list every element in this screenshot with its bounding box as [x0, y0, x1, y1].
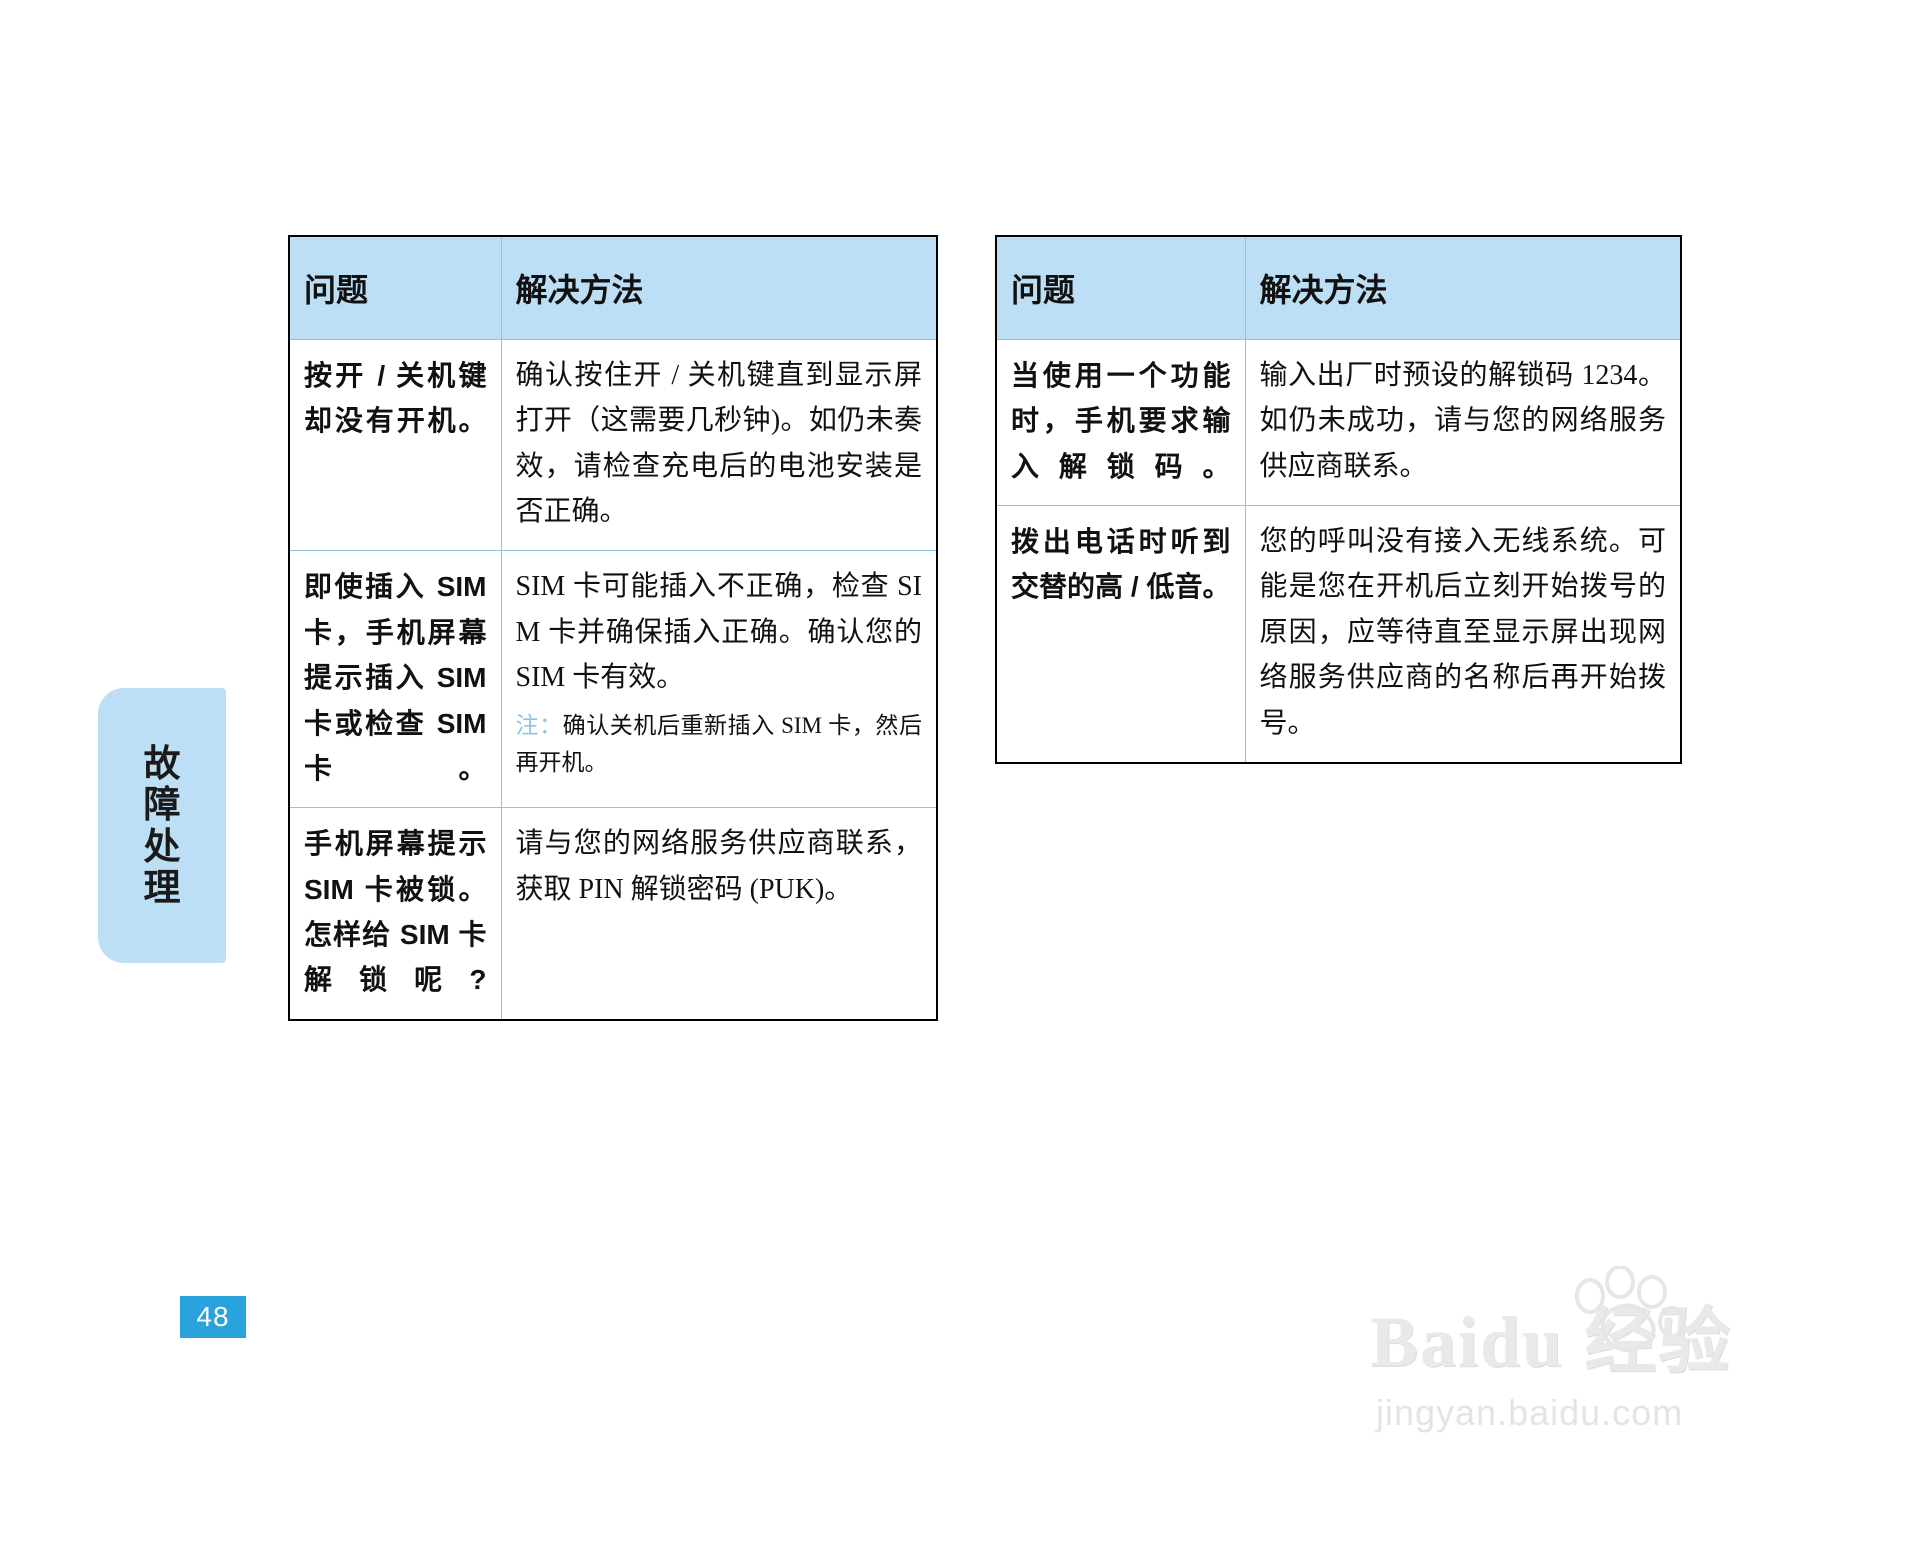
- page-number-badge: 48: [180, 1296, 246, 1338]
- section-tab-troubleshooting: 故障处理: [98, 688, 226, 963]
- table-row: 即使插入 SIM 卡，手机屏幕提示插入 SIM 卡或检查 SIM 卡。 SIM …: [289, 551, 937, 808]
- question-cell: 拨出电话时听到交替的高 / 低音。: [996, 506, 1245, 763]
- solution-text: 请与您的网络服务供应商联系，获取 PIN 解锁密码 (PUK)。: [516, 821, 923, 912]
- solution-cell: 输入出厂时预设的解锁码 1234。如仍未成功，请与您的网络服务供应商联系。: [1245, 340, 1681, 506]
- question-cell: 按开 / 关机键却没有开机。: [289, 340, 501, 551]
- column-header-solution: 解决方法: [501, 236, 937, 340]
- solution-cell: 请与您的网络服务供应商联系，获取 PIN 解锁密码 (PUK)。: [501, 808, 937, 1020]
- troubleshooting-table-left: 问题 解决方法 按开 / 关机键却没有开机。 确认按住开 / 关机键直到显示屏打…: [288, 235, 938, 1021]
- column-header-solution: 解决方法: [1245, 236, 1681, 340]
- solution-cell: SIM 卡可能插入不正确，检查 SIM 卡并确保插入正确。确认您的 SIM 卡有…: [501, 551, 937, 808]
- troubleshooting-table-right: 问题 解决方法 当使用一个功能时，手机要求输入解锁码。 输入出厂时预设的解锁码 …: [995, 235, 1682, 764]
- column-header-question: 问题: [996, 236, 1245, 340]
- question-cell: 当使用一个功能时，手机要求输入解锁码。: [996, 340, 1245, 506]
- watermark-logo-text: Baidu 经验: [1370, 1282, 1732, 1387]
- section-tab-label: 故障处理: [138, 743, 186, 909]
- watermark-url-text: jingyan.baidu.com: [1376, 1392, 1683, 1434]
- question-cell: 手机屏幕提示 SIM 卡被锁。怎样给 SIM 卡解锁呢?: [289, 808, 501, 1020]
- solution-cell: 您的呼叫没有接入无线系统。可能是您在开机后立刻开始拨号的原因，应等待直至显示屏出…: [1245, 506, 1681, 763]
- solution-cell: 确认按住开 / 关机键直到显示屏打开（这需要几秒钟)。如仍未奏效，请检查充电后的…: [501, 340, 937, 551]
- table-row: 当使用一个功能时，手机要求输入解锁码。 输入出厂时预设的解锁码 1234。如仍未…: [996, 340, 1681, 506]
- paw-print-icon: [1568, 1266, 1688, 1366]
- table-header-row: 问题 解决方法: [996, 236, 1681, 340]
- solution-text: 您的呼叫没有接入无线系统。可能是您在开机后立刻开始拨号的原因，应等待直至显示屏出…: [1260, 519, 1667, 746]
- note-label: 注：: [516, 712, 563, 738]
- watermark: Baidu 经验 jingyan.baidu.com: [1370, 1272, 1840, 1462]
- solution-note: 注：确认关机后重新插入 SIM 卡，然后再开机。: [516, 707, 923, 782]
- solution-text: SIM 卡可能插入不正确，检查 SIM 卡并确保插入正确。确认您的 SIM 卡有…: [516, 564, 923, 700]
- table-row: 按开 / 关机键却没有开机。 确认按住开 / 关机键直到显示屏打开（这需要几秒钟…: [289, 340, 937, 551]
- column-header-question: 问题: [289, 236, 501, 340]
- table-header-row: 问题 解决方法: [289, 236, 937, 340]
- table-row: 拨出电话时听到交替的高 / 低音。 您的呼叫没有接入无线系统。可能是您在开机后立…: [996, 506, 1681, 763]
- note-text: 确认关机后重新插入 SIM 卡，然后再开机。: [516, 713, 923, 775]
- table-row: 手机屏幕提示 SIM 卡被锁。怎样给 SIM 卡解锁呢? 请与您的网络服务供应商…: [289, 808, 937, 1020]
- solution-text: 确认按住开 / 关机键直到显示屏打开（这需要几秒钟)。如仍未奏效，请检查充电后的…: [516, 353, 923, 534]
- question-cell: 即使插入 SIM 卡，手机屏幕提示插入 SIM 卡或检查 SIM 卡。: [289, 551, 501, 808]
- solution-text: 输入出厂时预设的解锁码 1234。如仍未成功，请与您的网络服务供应商联系。: [1260, 353, 1667, 489]
